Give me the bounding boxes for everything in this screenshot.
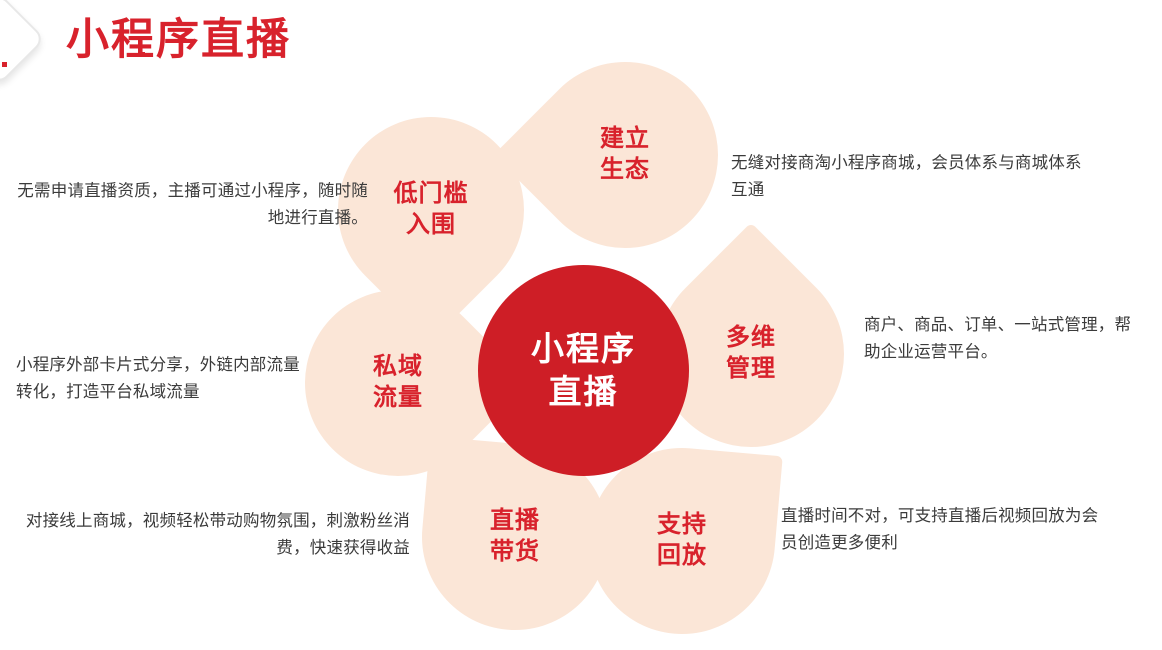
petal-label-line1: 建立: [600, 124, 650, 155]
petal-diagram: 低门槛 入围 建立 生态 多维 管理 支持 回放 直播 带货 私域 流量: [0, 0, 1162, 647]
petal-label-line2: 管理: [726, 354, 776, 385]
note-replay: 直播时间不对，可支持直播后视频回放为会员创造更多便利: [781, 503, 1111, 556]
petal-label-line1: 支持: [657, 510, 707, 541]
center-hub[interactable]: 小程序 直播: [478, 265, 689, 476]
petal-build-ecology[interactable]: 建立 生态: [493, 23, 756, 286]
petal-label: 建立 生态: [532, 62, 718, 248]
petal-label-line2: 回放: [657, 541, 707, 572]
note-private-flow: 小程序外部卡片式分享，外链内部流量转化，打造平台私域流量: [16, 352, 306, 405]
note-live-commerce: 对接线上商城，视频轻松带动购物氛围，刺激粉丝消费，快速获得收益: [6, 508, 410, 561]
note-build-ecology: 无缝对接商淘小程序商城，会员体系与商城体系互通: [731, 150, 1091, 203]
petal-label-line2: 入围: [406, 210, 456, 241]
petal-label: 私域 流量: [305, 290, 491, 476]
note-low-barrier: 无需申请直播资质，主播可通过小程序，随时随地进行直播。: [8, 178, 368, 231]
petal-label-line2: 带货: [490, 537, 540, 568]
hub-line1: 小程序: [531, 328, 636, 371]
petal-label-line2: 流量: [373, 383, 423, 414]
petal-label-line1: 多维: [726, 323, 776, 354]
hub-line2: 直播: [549, 371, 619, 414]
petal-label-line1: 低门槛: [394, 179, 469, 210]
petal-label-line2: 生态: [600, 155, 650, 186]
petal-label: 支持 回放: [589, 448, 775, 634]
petal-label-line1: 私域: [373, 352, 423, 383]
note-multi-manage: 商户、商品、订单、一站式管理，帮助企业运营平台。: [864, 312, 1134, 365]
petal-label-line1: 直播: [490, 506, 540, 537]
